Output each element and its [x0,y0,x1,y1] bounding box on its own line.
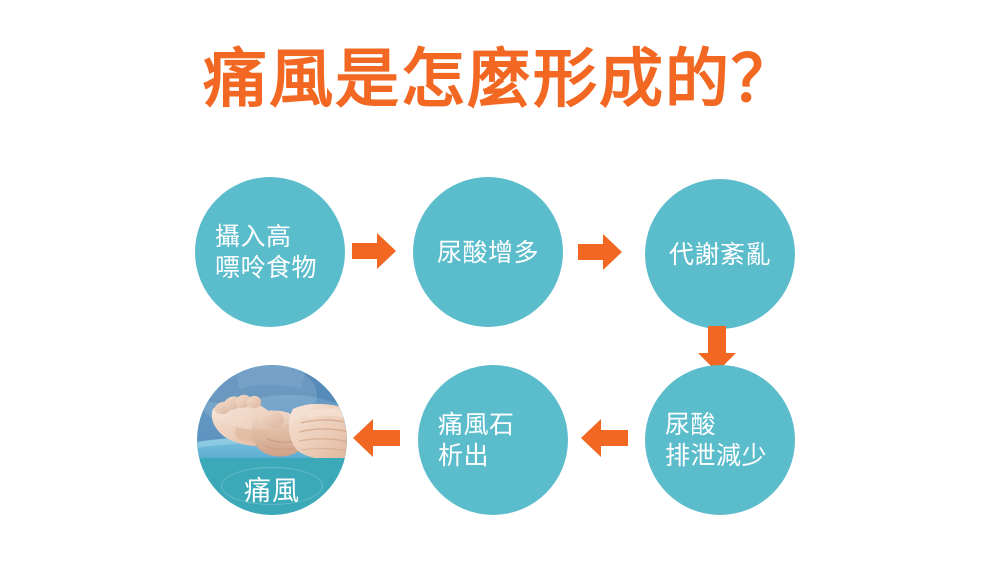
flow-node-intake-label: 攝入高 嘌呤食物 [195,177,345,327]
arrow-right-icon [578,233,622,271]
flow-node-intake[interactable]: 攝入高 嘌呤食物 [195,177,345,327]
flow-node-metabolic-disorder[interactable]: 代謝紊亂 [645,179,795,329]
flow-node-gout-label: 痛風 [197,475,347,509]
flow-node-reduced-uric-acid-excretion-label: 尿酸 排泄減少 [645,365,795,515]
slide-canvas: 痛風是怎麼形成的？ 攝入高 嘌呤食物 尿酸增多 代謝紊亂 [0,0,1000,586]
arrow-right-icon [352,232,396,270]
flow-node-tophi-precipitation-label: 痛風石 析出 [418,365,568,515]
page-title: 痛風是怎麼形成的？ [0,42,1000,118]
arrow-left-icon [580,418,628,458]
flow-node-uric-acid-increase[interactable]: 尿酸增多 [413,177,563,327]
flow-node-tophi-precipitation[interactable]: 痛風石 析出 [418,365,568,515]
flow-node-reduced-uric-acid-excretion[interactable]: 尿酸 排泄減少 [645,365,795,515]
flow-node-metabolic-disorder-label: 代謝紊亂 [645,179,795,329]
arrow-left-icon [352,418,400,458]
flow-node-uric-acid-increase-label: 尿酸增多 [413,177,563,327]
flow-node-gout[interactable]: 痛風 [197,365,347,515]
